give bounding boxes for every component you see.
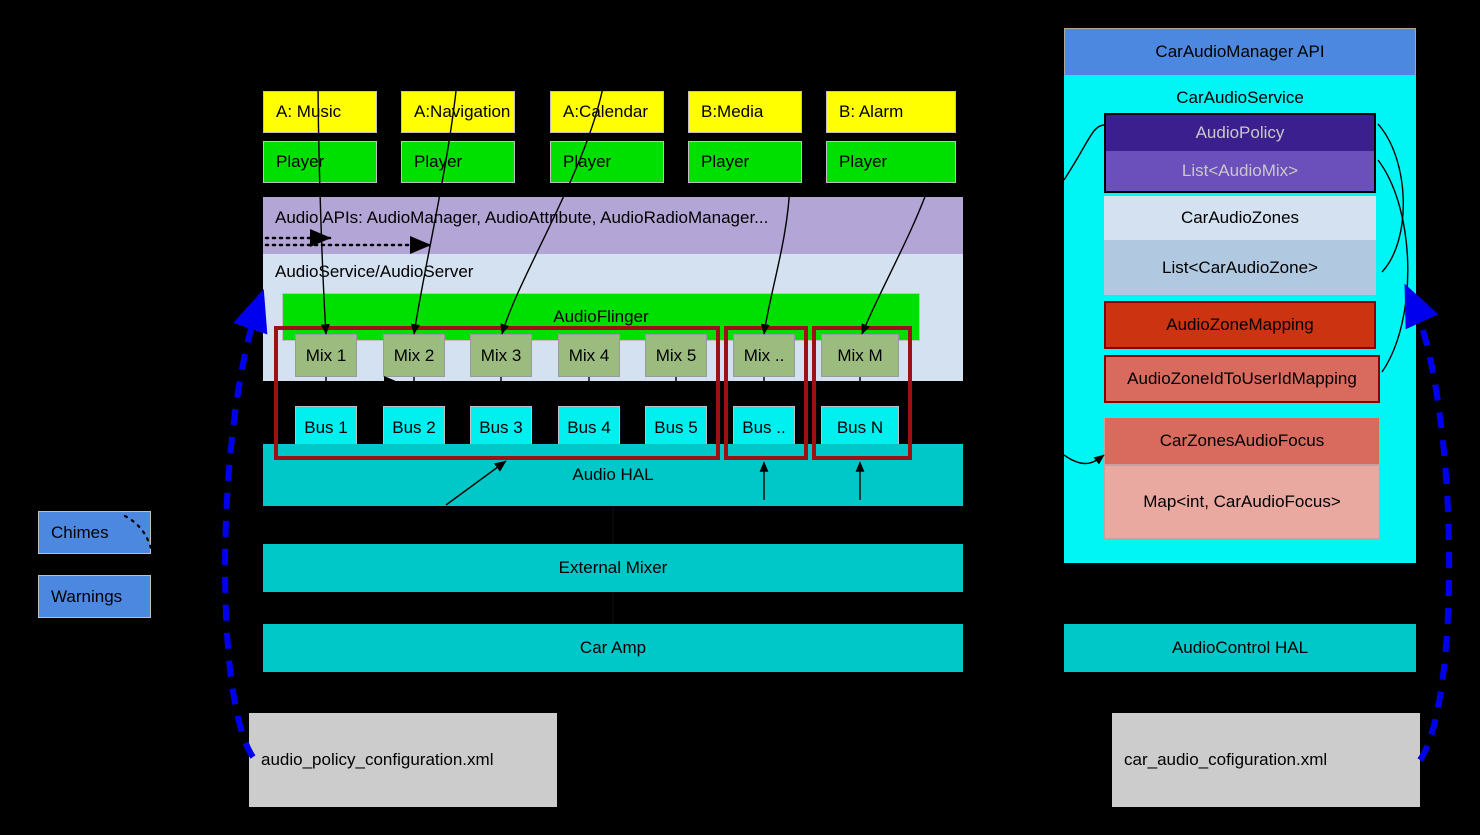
zone-bracket-primary <box>274 326 720 460</box>
diagram-canvas: A: Music Player A:Navigation Player A:Ca… <box>0 0 1480 835</box>
app-player-4: Player <box>826 141 956 183</box>
app-player-2: Player <box>550 141 664 183</box>
audio-mix-list-box: List<AudioMix> <box>1106 151 1374 191</box>
car-audio-zones-box: CarAudioZones <box>1104 196 1376 240</box>
app-title-0: A: Music <box>263 91 377 133</box>
car-amp-box: Car Amp <box>263 624 963 672</box>
app-title-1: A:Navigation <box>401 91 515 133</box>
external-mixer-box: External Mixer <box>263 544 963 592</box>
audio-control-hal-box: AudioControl HAL <box>1064 624 1416 672</box>
audio-policy-box: AudioPolicy <box>1106 115 1374 151</box>
app-title-2: A:Calendar <box>550 91 664 133</box>
car-audio-manager-api-box: CarAudioManager API <box>1064 28 1416 76</box>
app-title-3: B:Media <box>688 91 802 133</box>
chimes-box: Chimes <box>38 511 151 554</box>
zone-bracket-last <box>812 326 912 460</box>
dashed-audio-policy-config-arc <box>225 306 258 757</box>
audio-apis-band: Audio APIs: AudioManager, AudioAttribute… <box>263 197 963 254</box>
car-audio-service-label: CarAudioService <box>1064 88 1416 108</box>
car-zones-audio-focus-box: CarZonesAudioFocus <box>1104 417 1380 465</box>
car-audio-config-xml: car_audio_cofiguration.xml <box>1112 713 1420 807</box>
app-player-0: Player <box>263 141 377 183</box>
dashed-car-audio-config-arc <box>1412 300 1449 760</box>
app-title-4: B: Alarm <box>826 91 956 133</box>
warnings-box: Warnings <box>38 575 151 618</box>
app-player-3: Player <box>688 141 802 183</box>
map-car-audio-focus-box: Map<int, CarAudioFocus> <box>1104 465 1380 539</box>
audio-policy-config-xml: audio_policy_configuration.xml <box>249 713 557 807</box>
car-audio-zone-list-box: List<CarAudioZone> <box>1104 240 1376 295</box>
app-player-1: Player <box>401 141 515 183</box>
audio-zone-mapping-box: AudioZoneMapping <box>1104 301 1376 349</box>
zone-bracket-mid <box>724 326 808 460</box>
audio-zone-id-to-user-id-mapping-box: AudioZoneIdToUserIdMapping <box>1104 355 1380 403</box>
